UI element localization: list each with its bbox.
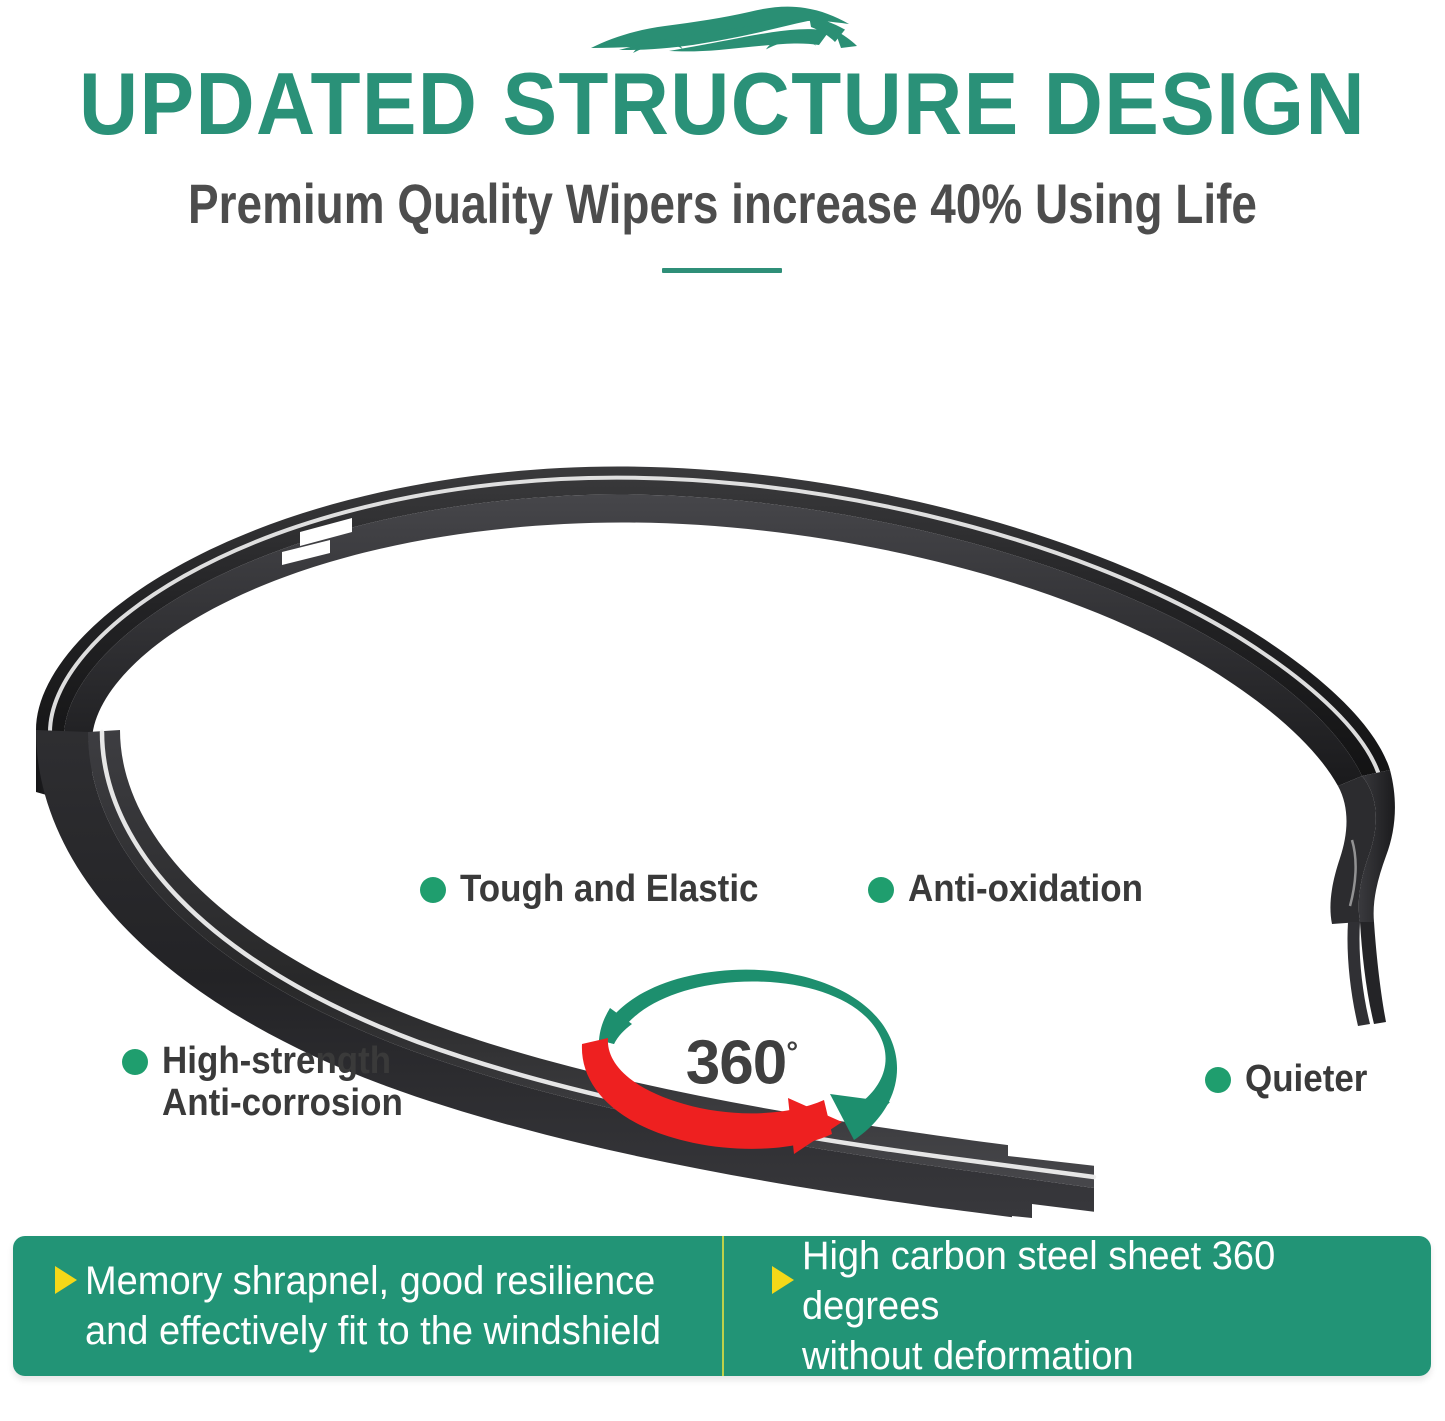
callout-label: Anti-oxidation xyxy=(908,868,1143,910)
callout-quieter: Quieter xyxy=(1205,1058,1378,1100)
triangle-right-icon xyxy=(772,1266,794,1294)
callout-label: High-strength Anti-corrosion xyxy=(162,1040,403,1124)
title-divider xyxy=(662,268,782,273)
callout-label: Quieter xyxy=(1245,1058,1367,1100)
page-title: UPDATED STRUCTURE DESIGN xyxy=(51,56,1395,152)
product-showcase: 360° Tough and Elastic Anti-oxidation Hi… xyxy=(0,300,1445,1220)
callout-anti-oxidation: Anti-oxidation xyxy=(868,868,1163,910)
callout-tough-and-elastic: Tough and Elastic xyxy=(420,868,784,910)
page-subtitle: Premium Quality Wipers increase 40% Usin… xyxy=(130,172,1315,236)
bullet-dot-icon xyxy=(868,877,894,903)
bullet-dot-icon xyxy=(1205,1067,1231,1093)
banner-panel-memory-shrapnel: Memory shrapnel, good resilience and eff… xyxy=(13,1236,722,1376)
callout-high-strength-anti-corrosion: High-strength Anti-corrosion xyxy=(122,1040,424,1124)
banner-text: High carbon steel sheet 360 degrees with… xyxy=(802,1231,1400,1381)
banner-text: Memory shrapnel, good resilience and eff… xyxy=(85,1256,661,1356)
feature-banner: Memory shrapnel, good resilience and eff… xyxy=(13,1236,1431,1376)
bullet-dot-icon xyxy=(420,877,446,903)
callout-label: Tough and Elastic xyxy=(460,868,758,910)
triangle-right-icon xyxy=(55,1266,77,1294)
bullet-dot-icon xyxy=(122,1049,148,1075)
360-degree-rotation-icon xyxy=(566,948,918,1168)
banner-panel-high-carbon-steel: High carbon steel sheet 360 degrees with… xyxy=(722,1236,1431,1376)
